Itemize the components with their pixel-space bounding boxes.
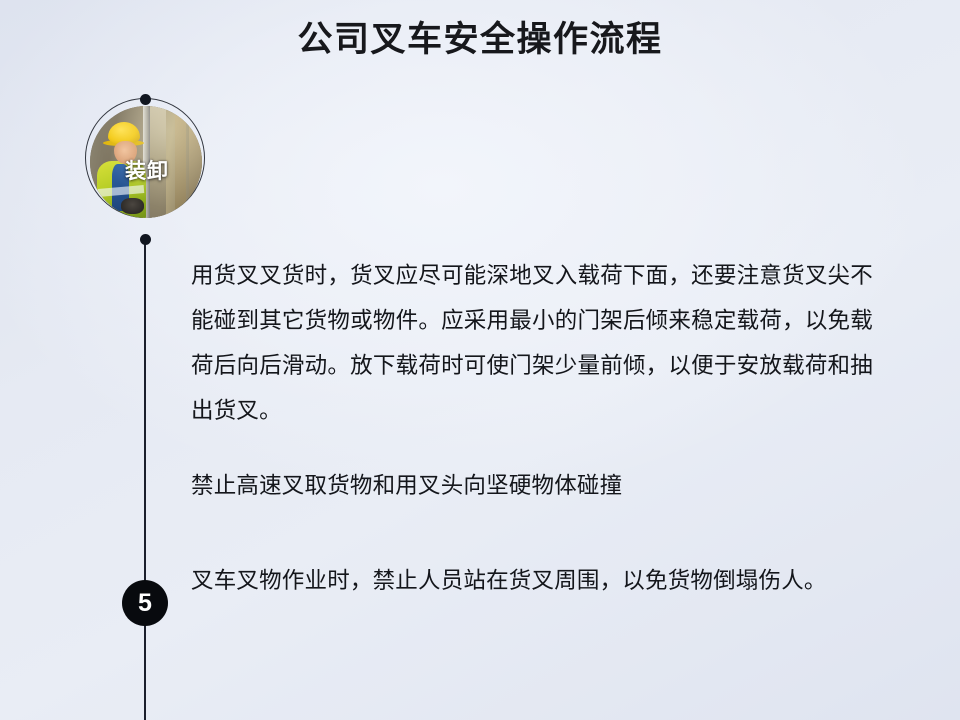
photo-bubble: 装卸 [85, 98, 209, 222]
connector-dot-bottom [140, 234, 151, 245]
photo-bubble-label: 装卸 [85, 155, 209, 185]
page-title: 公司叉车安全操作流程 [0, 18, 960, 62]
timeline-spine [144, 239, 146, 720]
connector-dot-top [140, 94, 151, 105]
step-number-badge: 5 [122, 580, 168, 626]
slide-canvas: 公司叉车安全操作流程 装卸 5 用货叉叉货时，货叉应尽可能深地叉入载荷下面，还要… [0, 0, 960, 720]
step-text: 用货叉叉货时，货叉应尽可能深地叉入载荷下面，还要注意货叉尖不能碰到其它货物或物件… [191, 253, 873, 433]
step-text: 叉车叉物作业时，禁止人员站在货叉周围，以免货物倒塌伤人。 [191, 558, 873, 603]
step-text: 禁止高速叉取货物和用叉头向坚硬物体碰撞 [191, 463, 873, 508]
